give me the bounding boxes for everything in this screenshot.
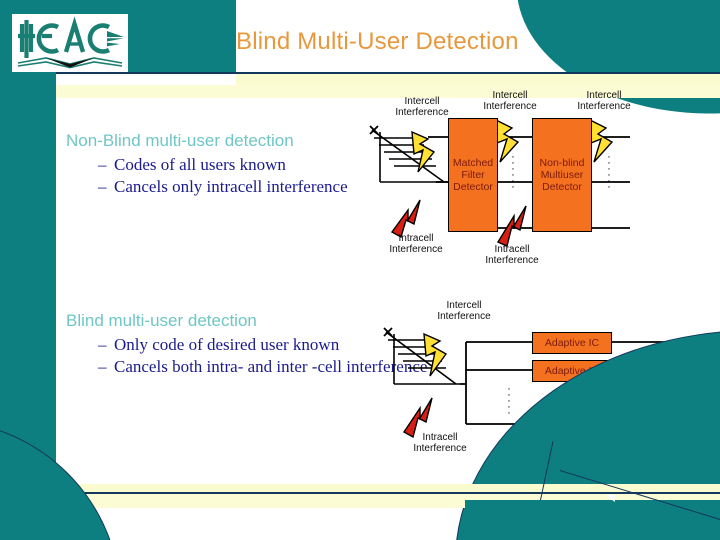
page-title: Blind Multi-User Detection bbox=[236, 28, 596, 56]
box-line: Filter bbox=[461, 169, 484, 181]
hcac-logo bbox=[12, 14, 128, 72]
bottom-left-teal-arc bbox=[0, 420, 121, 540]
box-line: Detector bbox=[453, 181, 493, 193]
vertical-ellipsis: ·· ·· ·· bbox=[510, 154, 516, 190]
antenna-icon bbox=[386, 332, 460, 384]
label-intracell-mid: Intracell Interference bbox=[464, 244, 560, 266]
vertical-ellipsis: ·· ·· ·· bbox=[606, 154, 612, 190]
label-intercell-antenna: Intercell Interference bbox=[374, 96, 470, 118]
block-heading-non-blind: Non-Blind multi-user detection bbox=[66, 130, 348, 152]
antenna-cross-icon bbox=[370, 126, 378, 134]
presentation-slide: Blind Multi-User Detection Non-Blind mul… bbox=[0, 0, 720, 540]
box-line: Adaptive IC bbox=[545, 337, 599, 349]
bullet-text: Cancels both intra- and inter -cell inte… bbox=[114, 357, 427, 376]
label-intracell-antenna: Intracell Interference bbox=[392, 432, 488, 454]
non-blind-multiuser-detector-box[interactable]: Non-blind Multiuser Detector bbox=[532, 118, 592, 232]
intracell-bolt-icon bbox=[498, 206, 526, 246]
bullet-list-non-blind: – Codes of all users known – Cancels onl… bbox=[66, 154, 348, 198]
box-line: Non-blind bbox=[540, 157, 585, 169]
list-item: – Only code of desired user known bbox=[66, 334, 427, 356]
text-block-non-blind: Non-Blind multi-user detection – Codes o… bbox=[66, 130, 348, 198]
bottom-right-teal-block bbox=[465, 500, 720, 540]
bullet-text: Only code of desired user known bbox=[114, 335, 339, 354]
left-teal-sidebar bbox=[0, 72, 56, 477]
bullet-dash-icon: – bbox=[98, 154, 107, 176]
list-item: – Cancels only intracell interference bbox=[66, 176, 348, 198]
vertical-ellipsis: ·· ·· · bbox=[506, 386, 512, 416]
bullet-dash-icon: – bbox=[98, 334, 107, 356]
list-item: – Codes of all users known bbox=[66, 154, 348, 176]
text-block-blind: Blind multi-user detection – Only code o… bbox=[66, 310, 427, 378]
intercell-bolt-icon bbox=[424, 334, 446, 376]
label-intracell-antenna: Intracell Interference bbox=[368, 233, 464, 255]
matched-filter-detector-box[interactable]: Matched Filter Detector bbox=[448, 118, 498, 232]
label-intercell-mid: Intercell Interference bbox=[462, 90, 558, 112]
bullet-text: Cancels only intracell interference bbox=[114, 177, 348, 196]
label-intercell-right: Intercell Interference bbox=[556, 90, 652, 112]
bullet-list-blind: – Only code of desired user known – Canc… bbox=[66, 334, 427, 378]
antenna-cross-icon bbox=[384, 328, 392, 336]
bullet-text: Codes of all users known bbox=[114, 155, 286, 174]
block-heading-blind: Blind multi-user detection bbox=[66, 310, 427, 332]
bullet-dash-icon: – bbox=[98, 176, 107, 198]
label-intercell-antenna: Intercell Interference bbox=[416, 300, 512, 322]
box-line: Matched bbox=[453, 157, 493, 169]
adaptive-ic-box-1[interactable]: Adaptive IC bbox=[532, 332, 612, 354]
hcac-logo-mark bbox=[12, 14, 128, 72]
list-item: – Cancels both intra- and inter -cell in… bbox=[66, 356, 427, 378]
non-blind-detection-diagram: Intercell Interference Intracell Interfe… bbox=[368, 92, 720, 272]
bullet-dash-icon: – bbox=[98, 356, 107, 378]
header-divider-line bbox=[0, 72, 720, 74]
intracell-bolt-icon bbox=[392, 200, 420, 237]
box-line: Detector bbox=[542, 181, 582, 193]
box-line: Multiuser bbox=[541, 169, 584, 181]
